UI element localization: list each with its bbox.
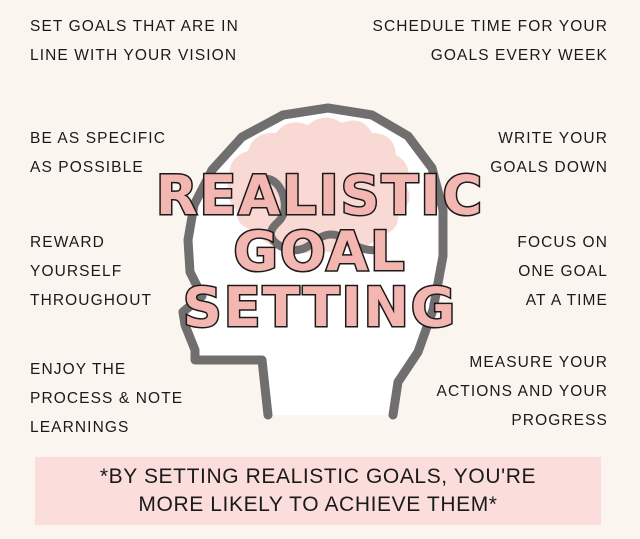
tip-reward-yourself: REWARD YOURSELF THROUGHOUT bbox=[30, 228, 152, 315]
tip-focus-one-goal: FOCUS ON ONE GOAL AT A TIME bbox=[517, 228, 608, 315]
poster-canvas: SET GOALS THAT ARE IN LINE WITH YOUR VIS… bbox=[0, 0, 640, 539]
tip-set-goals: SET GOALS THAT ARE IN LINE WITH YOUR VIS… bbox=[30, 12, 239, 70]
tip-write-goals-down: WRITE YOUR GOALS DOWN bbox=[490, 124, 608, 182]
tip-be-specific: BE AS SPECIFIC AS POSSIBLE bbox=[30, 124, 166, 182]
tip-enjoy-process: ENJOY THE PROCESS & NOTE LEARNINGS bbox=[30, 355, 183, 442]
footer-line-2: MORE LIKELY TO ACHIEVE THEM* bbox=[138, 491, 497, 519]
tip-measure-progress: MEASURE YOUR ACTIONS AND YOUR PROGRESS bbox=[437, 348, 608, 435]
tip-schedule-time: SCHEDULE TIME FOR YOUR GOALS EVERY WEEK bbox=[373, 12, 609, 70]
footer-line-1: *BY SETTING REALISTIC GOALS, YOU'RE bbox=[100, 463, 536, 491]
footer-banner: *BY SETTING REALISTIC GOALS, YOU'RE MORE… bbox=[35, 457, 601, 525]
